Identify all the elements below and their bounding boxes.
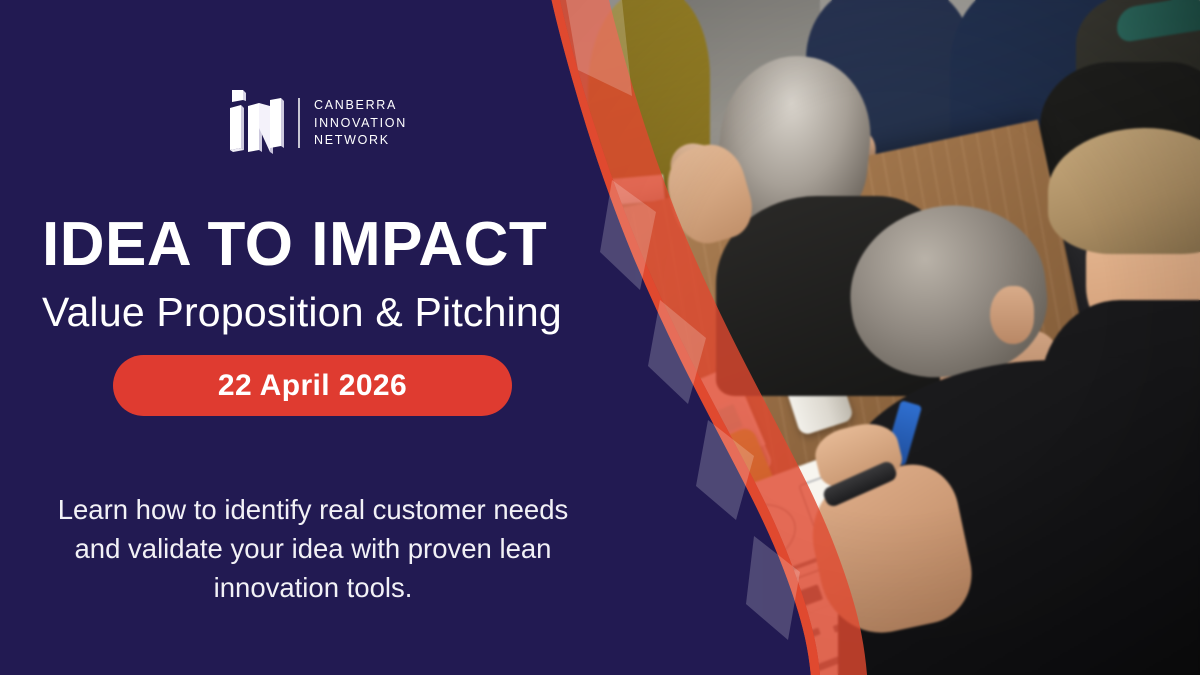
workshop-participants-photo [520, 0, 1200, 675]
foreground-participant-ear [990, 286, 1034, 344]
logo-line-3: NETWORK [314, 133, 407, 148]
in-monogram-icon [222, 88, 284, 158]
logo-line-2: INNOVATION [314, 116, 407, 131]
page-subtitle: Value Proposition & Pitching [42, 290, 582, 335]
event-date-label: 22 April 2026 [218, 369, 407, 403]
event-description: Learn how to identify real customer need… [40, 490, 586, 607]
logo-divider [298, 98, 300, 148]
event-date-badge[interactable]: 22 April 2026 [113, 355, 512, 416]
event-banner: CANBERRA INNOVATION NETWORK IDEA TO IMPA… [0, 0, 1200, 675]
logo-wordmark: CANBERRA INNOVATION NETWORK [314, 98, 407, 148]
page-title: IDEA TO IMPACT [42, 214, 582, 276]
banner-content: CANBERRA INNOVATION NETWORK IDEA TO IMPA… [0, 0, 600, 675]
cbr-innovation-network-logo: CANBERRA INNOVATION NETWORK [222, 88, 407, 158]
logo-line-1: CANBERRA [314, 98, 407, 113]
